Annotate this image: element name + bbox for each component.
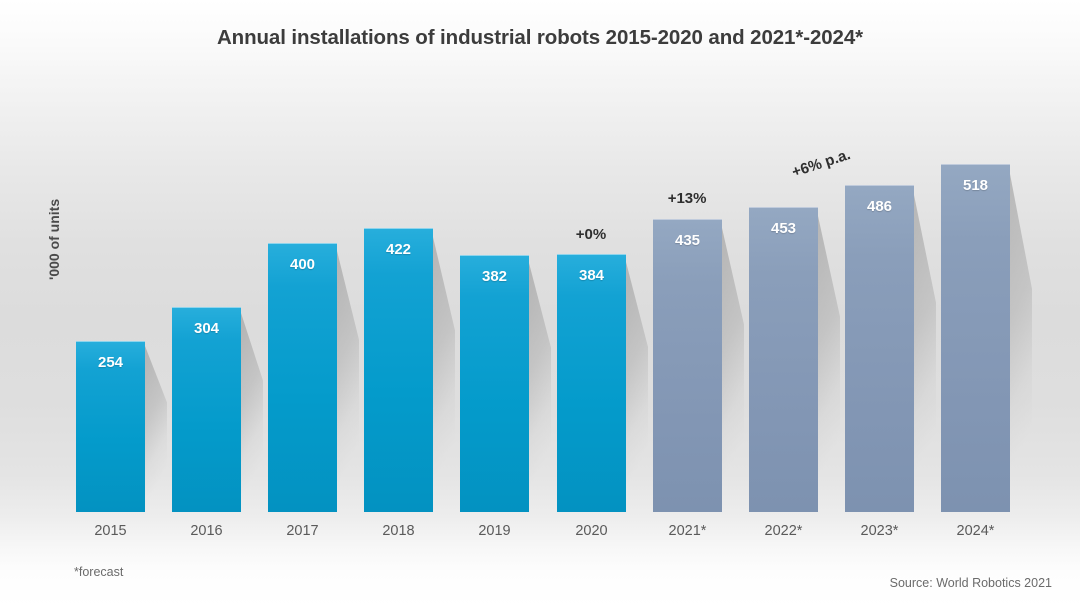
bar-value-label: 453 [749, 220, 818, 237]
plot-area: 2542015304201640020174222018382201938420… [0, 0, 1080, 608]
bar-rect[interactable]: 400 [268, 243, 337, 512]
bar-shadow [722, 228, 744, 512]
x-axis-tick-2020: 2020 [557, 523, 626, 539]
bar-rect[interactable]: 254 [76, 341, 145, 512]
bar-2022-forecast[interactable]: 453 [749, 207, 818, 512]
bar-value-label: 435 [653, 232, 722, 249]
bar-2019[interactable]: 382 [460, 255, 529, 512]
bar-2017[interactable]: 400 [268, 243, 337, 512]
x-axis-tick-2024-forecast: 2024* [941, 523, 1010, 539]
bar-shadow [145, 346, 167, 512]
bar-shadow [626, 262, 648, 512]
x-axis-tick-2019: 2019 [460, 523, 529, 539]
bar-2021-forecast[interactable]: 435 [653, 219, 722, 512]
bar-value-label: 422 [364, 241, 433, 258]
bar-shadow [433, 237, 455, 512]
bar-value-label: 384 [557, 267, 626, 284]
bar-value-label: 518 [941, 177, 1010, 194]
bar-shadow [529, 263, 551, 512]
bar-shadow [1010, 174, 1032, 512]
bar-value-label: 400 [268, 256, 337, 273]
x-axis-tick-2018: 2018 [364, 523, 433, 539]
bar-rect[interactable]: 382 [460, 255, 529, 512]
bar-value-label: 486 [845, 198, 914, 215]
bar-value-label: 304 [172, 320, 241, 337]
bar-rect[interactable]: 384 [557, 254, 626, 512]
bar-2015[interactable]: 254 [76, 341, 145, 512]
bar-shadow [818, 216, 840, 512]
bar-2018[interactable]: 422 [364, 228, 433, 512]
x-axis-tick-2017: 2017 [268, 523, 337, 539]
bar-2016[interactable]: 304 [172, 307, 241, 512]
annotation-thirteen-percent: +13% [647, 190, 727, 207]
bar-rect[interactable]: 435 [653, 219, 722, 512]
bar-shadow [241, 313, 263, 512]
bar-rect[interactable]: 422 [364, 228, 433, 512]
bar-value-label: 254 [76, 354, 145, 371]
x-axis-tick-2022-forecast: 2022* [749, 523, 818, 539]
bar-rect[interactable]: 304 [172, 307, 241, 512]
x-axis-tick-2016: 2016 [172, 523, 241, 539]
footnote-forecast: *forecast [74, 565, 123, 579]
bar-2023-forecast[interactable]: 486 [845, 185, 914, 512]
annotation-zero-percent: +0% [561, 226, 621, 243]
bar-rect[interactable]: 486 [845, 185, 914, 512]
bar-shadow [337, 251, 359, 512]
x-axis-tick-2015: 2015 [76, 523, 145, 539]
x-axis-tick-2023-forecast: 2023* [845, 523, 914, 539]
x-axis-tick-2021-forecast: 2021* [653, 523, 722, 539]
chart-slide: Annual installations of industrial robot… [0, 0, 1080, 608]
bar-value-label: 382 [460, 268, 529, 285]
source-caption: Source: World Robotics 2021 [890, 576, 1052, 590]
bar-rect[interactable]: 518 [941, 164, 1010, 512]
bar-2020[interactable]: 384 [557, 254, 626, 512]
bar-2024-forecast[interactable]: 518 [941, 164, 1010, 512]
bar-shadow [914, 195, 936, 512]
bar-rect[interactable]: 453 [749, 207, 818, 512]
